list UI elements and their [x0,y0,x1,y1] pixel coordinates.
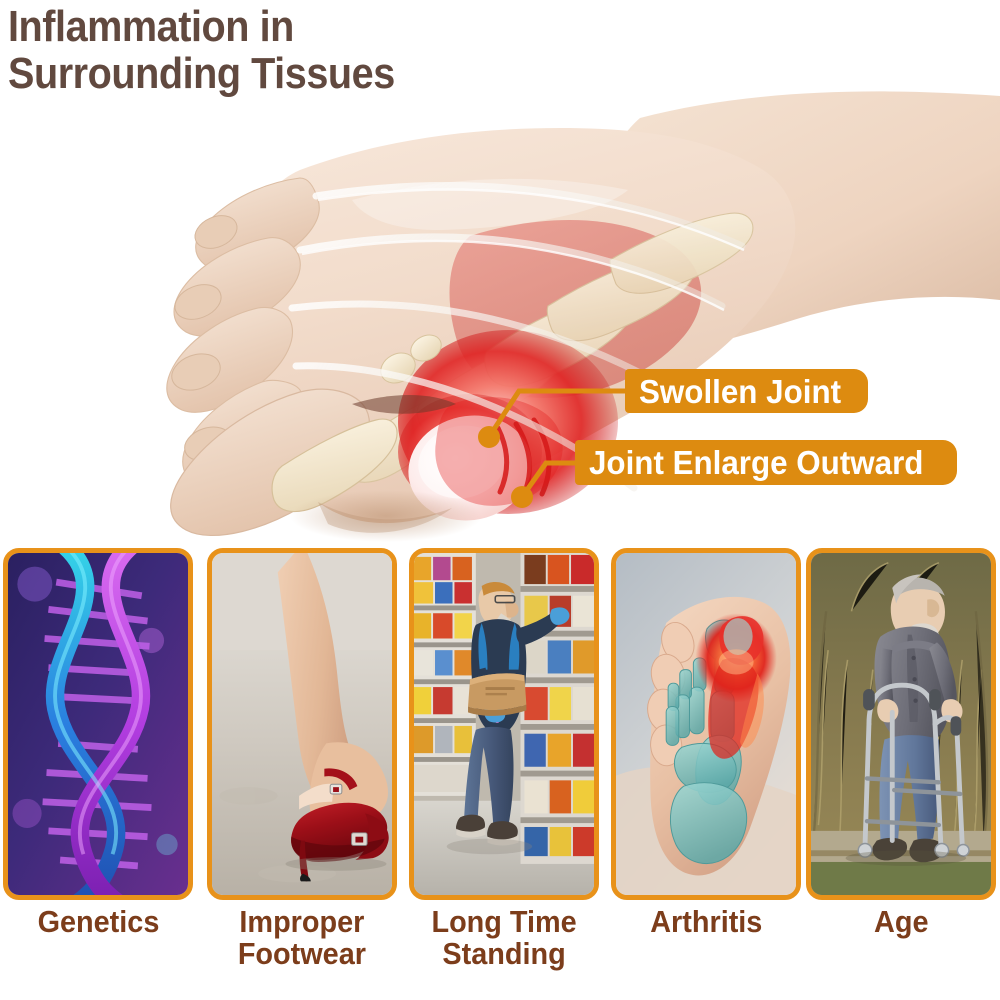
caption-row: Genetics Improper Footwear Long Time Sta… [0,906,1000,1000]
caption-long-time-standing-text: Long Time Standing [431,906,576,970]
caption-age-text: Age [874,906,928,938]
callout-joint-enlarge-outward-label: Joint Enlarge Outward [589,446,923,479]
card-long-time-standing [409,548,599,900]
caption-genetics: Genetics [3,906,193,938]
card-age [806,548,996,900]
callout-joint-enlarge-outward: Joint Enlarge Outward [575,440,957,485]
caption-long-time-standing: Long Time Standing [409,906,599,970]
caption-improper-footwear: Improper Footwear [207,906,397,970]
red-high-heel-image [212,553,392,895]
cause-thumbnail-row [0,548,1000,908]
elderly-walker-image [811,553,991,895]
caption-arthritis: Arthritis [611,906,801,938]
dna-helix-image [8,553,188,895]
caption-improper-footwear-text: Improper Footwear [238,906,366,970]
card-genetics [3,548,193,900]
caption-genetics-text: Genetics [37,906,159,938]
callout-swollen-joint-label: Swollen Joint [639,375,841,408]
caption-arthritis-text: Arthritis [650,906,762,938]
arthritic-foot-image [616,553,796,895]
store-worker-image [414,553,594,895]
card-arthritis [611,548,801,900]
infographic-root: Inflammation in Surrounding Tissues Swol… [0,0,1000,1000]
card-improper-footwear [207,548,397,900]
page-title: Inflammation in Surrounding Tissues [8,4,566,97]
caption-age: Age [806,906,996,938]
callout-swollen-joint: Swollen Joint [625,369,868,413]
